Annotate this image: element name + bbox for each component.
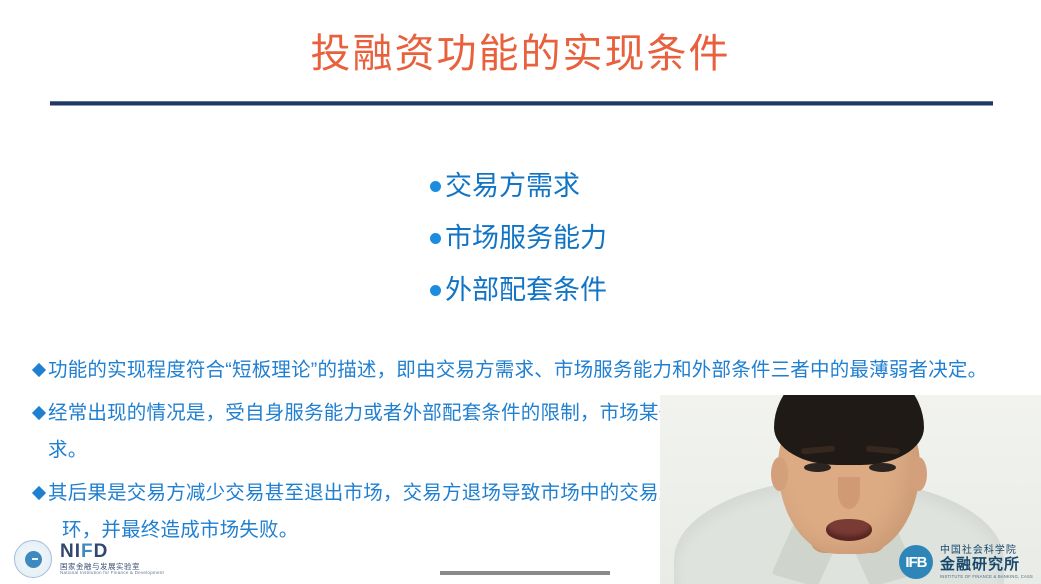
ifb-chinese-parent: 中国社会科学院 [940, 545, 1033, 556]
speaker-eye-left [804, 463, 831, 472]
page-title: 投融资功能的实现条件 [0, 28, 1041, 80]
key-point-label: 交易方需求 [445, 169, 580, 203]
key-point-item: 市场服务能力 [430, 212, 830, 264]
body-paragraph: 功能的实现程度符合“短板理论”的描述，即由交易方需求、市场服务能力和外部条件三者… [34, 352, 1014, 389]
title-divider [50, 101, 993, 106]
video-control-bar[interactable] [440, 571, 610, 575]
bullet-dot-icon [430, 233, 441, 244]
speaker-hair [774, 395, 924, 465]
ifb-english-name: INSTITUTE OF FINANCE & BANKING, CASS [940, 575, 1033, 580]
nifd-english-name: National Institution for Finance & Devel… [60, 571, 164, 576]
nifd-seal-icon [14, 540, 52, 578]
bullet-diamond-icon [32, 363, 46, 377]
speaker-nose [838, 477, 860, 509]
bullet-diamond-icon [32, 406, 46, 420]
ifb-seal-icon: IFB [899, 545, 933, 579]
ifb-logo: IFB 中国社会科学院 金融研究所 INSTITUTE OF FINANCE &… [899, 545, 1033, 580]
ifb-wordmark: 中国社会科学院 金融研究所 INSTITUTE OF FINANCE & BAN… [940, 545, 1033, 580]
key-point-label: 外部配套条件 [445, 273, 607, 307]
speaker-eye-right [869, 463, 896, 472]
bullet-dot-icon [430, 181, 441, 192]
speaker-ear-right [910, 457, 927, 491]
nifd-logo: NIFD 国家金融与发展实验室 National Institution for… [14, 540, 164, 578]
ifb-chinese-name: 金融研究所 [940, 557, 1033, 574]
key-points-list: 交易方需求 市场服务能力 外部配套条件 [430, 160, 830, 316]
speaker-ear-left [771, 457, 788, 491]
key-point-item: 外部配套条件 [430, 264, 830, 316]
nifd-mark-suffix: D [94, 541, 109, 562]
bullet-diamond-icon [32, 486, 46, 500]
nifd-mark-prefix: NI [60, 541, 81, 562]
nifd-mark-text: NIFD [60, 542, 164, 561]
nifd-mark-bar: F [81, 542, 94, 561]
nifd-wordmark: NIFD 国家金融与发展实验室 National Institution for… [60, 542, 164, 576]
presentation-slide: 投融资功能的实现条件 交易方需求 市场服务能力 外部配套条件 功能的实现程度符合… [0, 0, 1041, 584]
bullet-dot-icon [430, 285, 441, 296]
body-paragraph-text: 功能的实现程度符合“短板理论”的描述，即由交易方需求、市场服务能力和外部条件三者… [48, 352, 1014, 389]
key-point-item: 交易方需求 [430, 160, 830, 212]
speaker-mouth [826, 519, 872, 541]
nifd-chinese-name: 国家金融与发展实验室 [60, 563, 164, 571]
key-point-label: 市场服务能力 [445, 221, 607, 255]
